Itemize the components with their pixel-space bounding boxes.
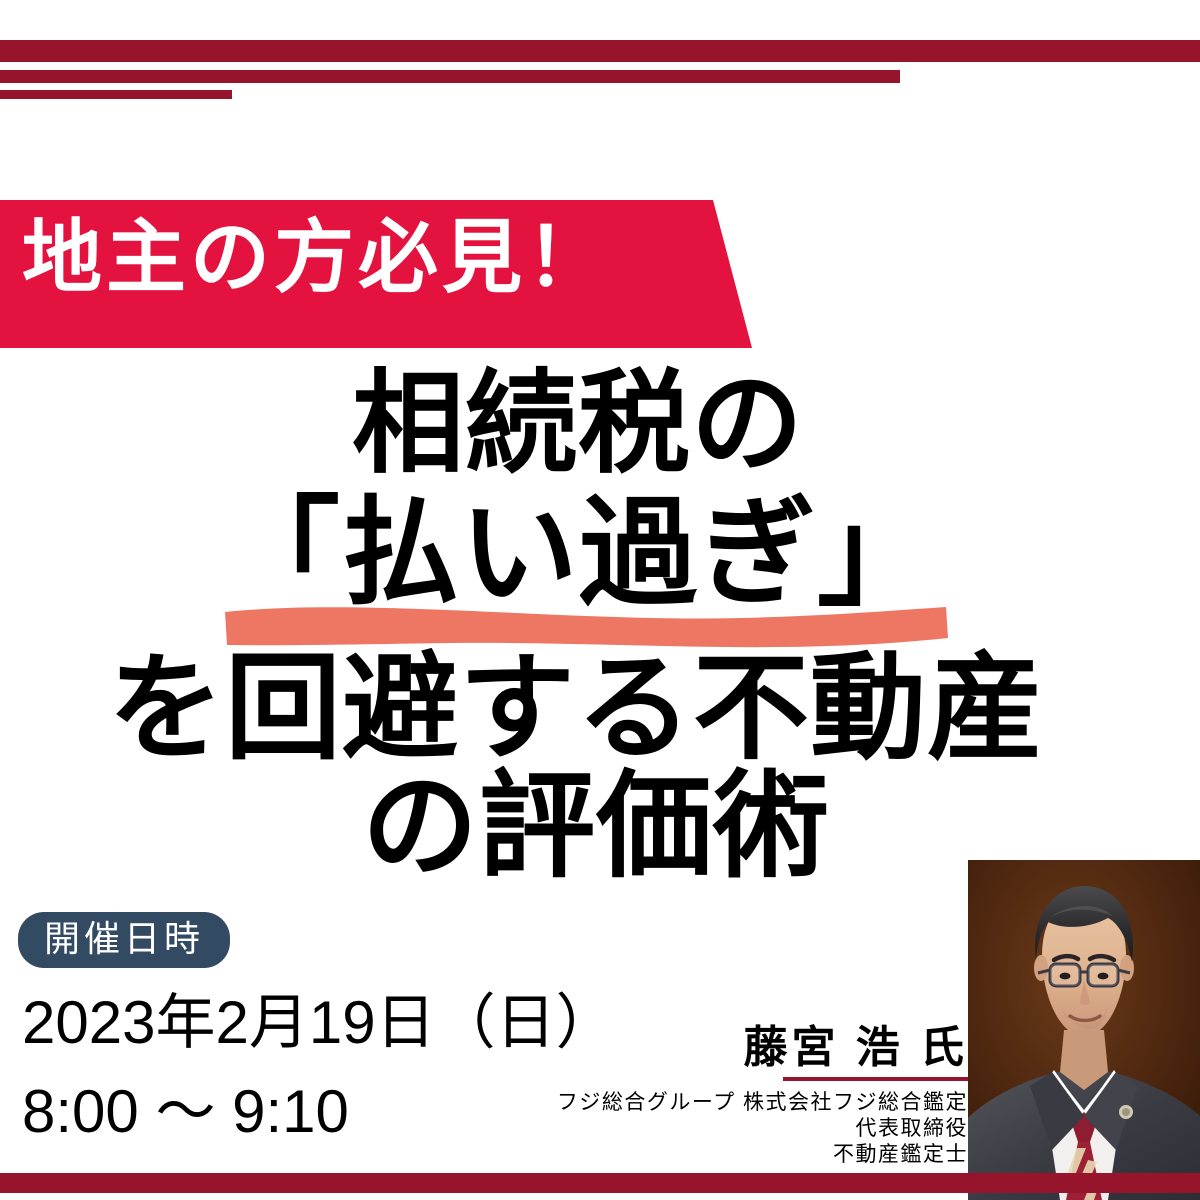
event-date: 2023年2月19日（日） bbox=[22, 993, 616, 1053]
bottom-accent-bar bbox=[0, 1173, 1200, 1193]
headline-line-1: 相続税の bbox=[352, 368, 804, 480]
headline-line-4: の評価術 bbox=[362, 768, 830, 884]
top-accent-bar-medium bbox=[0, 70, 900, 83]
speaker-portrait-photo bbox=[968, 860, 1200, 1200]
attention-ribbon-label: 地主の方必見！ bbox=[22, 218, 610, 298]
speaker-credential-license: 不動産鑑定士 bbox=[833, 1144, 968, 1165]
seminar-poster: 地主の方必見！ 相続税の 「払い過ぎ」 を回避する不動産 の評価術 開催日時 2… bbox=[0, 0, 1200, 1200]
speaker-credential-title: 代表取締役 bbox=[856, 1118, 969, 1139]
event-time: 8:00 ～ 9:10 bbox=[22, 1082, 349, 1142]
headline-line-3: を回避する不動産 bbox=[108, 650, 1044, 766]
top-accent-bar-wide bbox=[0, 40, 1200, 62]
speaker-credential-company: フジ総合グループ 株式会社フジ総合鑑定 bbox=[557, 1092, 968, 1113]
headline-line-2: 「払い過ぎ」 bbox=[222, 495, 936, 613]
event-datetime-badge: 開催日時 bbox=[18, 912, 230, 968]
event-datetime-badge-label: 開催日時 bbox=[44, 921, 204, 957]
speaker-name: 藤宮 浩 氏 bbox=[744, 1026, 968, 1070]
attention-ribbon: 地主の方必見！ bbox=[0, 200, 752, 348]
top-accent-bar-short bbox=[0, 90, 232, 99]
speaker-name-underline bbox=[783, 1077, 968, 1081]
